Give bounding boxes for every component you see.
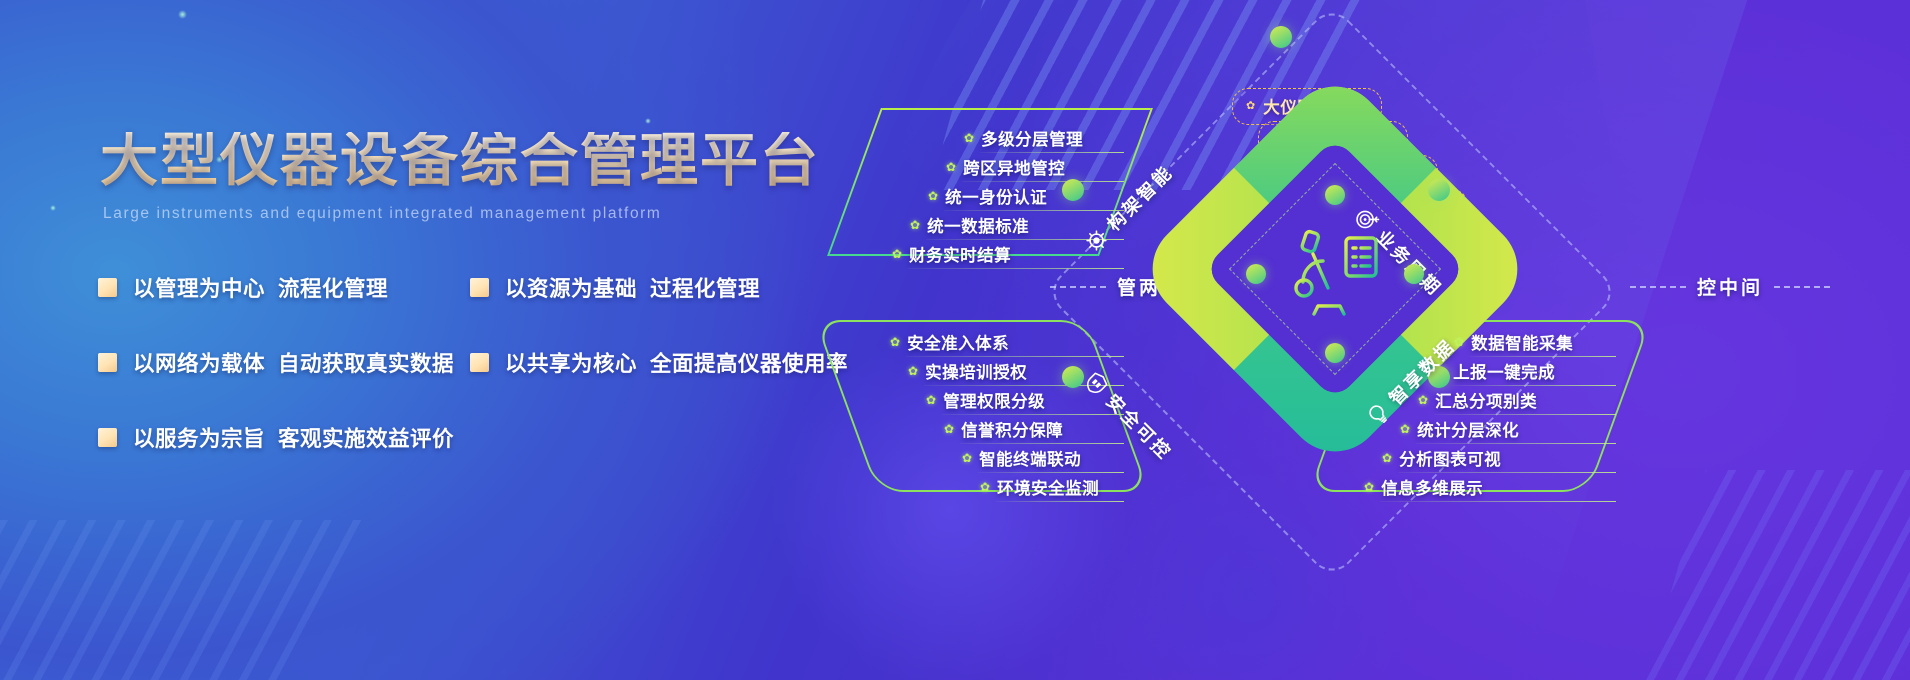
panel-bottom-left-list: ✿ 安全准入体系 ✿ 实操培训授权 ✿ 管理权限分级 ✿ 信誉积分保障 ✿ 智能… bbox=[876, 330, 1116, 504]
item-underline bbox=[996, 501, 1124, 502]
list-item[interactable]: ✿ 信誉积分保障 bbox=[944, 417, 1116, 441]
item-underline bbox=[962, 181, 1124, 182]
list-item[interactable]: ✿ 安全准入体系 bbox=[890, 330, 1116, 354]
list-item[interactable]: ✿ 汇总分项别类 bbox=[1418, 388, 1608, 412]
star-icon: ✿ bbox=[1246, 101, 1255, 112]
connector-node bbox=[1428, 179, 1450, 201]
architecture-diagram: 管两头 控中间 ✿ 多级分层管理 ✿ 跨区异地管控 ✿ 统一身份认证 ✿ 统一 bbox=[840, 0, 1910, 680]
star-icon: ✿ bbox=[964, 132, 974, 144]
list-item[interactable]: ✿ 统一身份认证 bbox=[928, 184, 1116, 208]
item-underline bbox=[960, 443, 1124, 444]
list-item[interactable]: ✿ 多级分层管理 bbox=[964, 126, 1116, 150]
list-item-label: 上报一键完成 bbox=[1453, 359, 1555, 383]
panel-top-left-list: ✿ 多级分层管理 ✿ 跨区异地管控 ✿ 统一身份认证 ✿ 统一数据标准 ✿ 财务… bbox=[886, 126, 1116, 271]
star-icon: ✿ bbox=[1400, 423, 1410, 435]
list-item-label: 统一身份认证 bbox=[945, 184, 1047, 208]
star-icon: ✿ bbox=[980, 481, 990, 493]
bullet-square-icon bbox=[98, 428, 117, 447]
list-item-label: 跨区异地管控 bbox=[963, 155, 1065, 179]
list-item-label: 管理权限分级 bbox=[943, 388, 1045, 412]
star-icon: ✿ bbox=[944, 423, 954, 435]
list-item-label: 环境安全监测 bbox=[997, 475, 1099, 499]
list-item[interactable]: ✿ 智能终端联动 bbox=[962, 446, 1116, 470]
divider-dash bbox=[1774, 286, 1830, 288]
item-underline bbox=[908, 268, 1124, 269]
star-icon: ✿ bbox=[890, 336, 900, 348]
item-underline bbox=[980, 152, 1124, 153]
list-item-label: 汇总分项别类 bbox=[1435, 388, 1537, 412]
list-item-label: 信息多维展示 bbox=[1381, 475, 1483, 499]
item-underline bbox=[942, 414, 1124, 415]
star-icon: ✿ bbox=[926, 394, 936, 406]
list-item[interactable]: ✿ 分析图表可视 bbox=[1382, 446, 1608, 470]
section-label-right-text: 控中间 bbox=[1697, 273, 1763, 300]
feature-text: 以共享为核心全面提高仪器使用率 bbox=[505, 347, 848, 378]
list-item[interactable]: ✿ 信息多维展示 bbox=[1364, 475, 1608, 499]
list-item[interactable]: ✿ 跨区异地管控 bbox=[946, 155, 1116, 179]
star-icon: ✿ bbox=[910, 219, 920, 231]
star-icon: ✿ bbox=[1418, 394, 1428, 406]
list-item-label: 数据智能采集 bbox=[1471, 330, 1573, 354]
star-icon: ✿ bbox=[946, 161, 956, 173]
star-icon: ✿ bbox=[892, 248, 902, 260]
list-item-label: 多级分层管理 bbox=[981, 126, 1083, 150]
inner-node-bottom bbox=[1325, 343, 1345, 363]
list-item-label: 安全准入体系 bbox=[907, 330, 1009, 354]
microscope-icon bbox=[1280, 226, 1392, 326]
star-icon: ✿ bbox=[908, 365, 918, 377]
item-underline bbox=[978, 472, 1124, 473]
feature-item: 以网络为载体自动获取真实数据 bbox=[98, 347, 470, 378]
star-icon: ✿ bbox=[928, 190, 938, 202]
feature-row: 以网络为载体自动获取真实数据 以共享为核心全面提高仪器使用率 bbox=[98, 347, 888, 378]
list-item-label: 智能终端联动 bbox=[979, 446, 1081, 470]
bullet-square-icon bbox=[98, 278, 117, 297]
inner-node-top bbox=[1325, 185, 1345, 205]
connector-node bbox=[1270, 26, 1292, 48]
item-underline bbox=[1434, 414, 1616, 415]
divider-dash bbox=[1050, 286, 1106, 288]
bullet-square-icon bbox=[470, 353, 489, 372]
list-item-label: 统一数据标准 bbox=[927, 213, 1029, 237]
list-item-label: 分析图表可视 bbox=[1399, 446, 1501, 470]
item-underline bbox=[1398, 472, 1616, 473]
feature-text: 以服务为宗旨客观实施效益评价 bbox=[133, 422, 454, 453]
feature-item: 以服务为宗旨客观实施效益评价 bbox=[98, 422, 470, 453]
feature-row: 以管理为中心流程化管理 以资源为基础过程化管理 bbox=[98, 272, 888, 303]
item-underline bbox=[1452, 385, 1616, 386]
connector-node bbox=[1062, 179, 1084, 201]
list-item[interactable]: ✿ 统计分层深化 bbox=[1400, 417, 1608, 441]
list-item[interactable]: ✿ 上报一键完成 bbox=[1436, 359, 1608, 383]
list-item-label: 实操培训授权 bbox=[925, 359, 1027, 383]
list-item[interactable]: ✿ 数据智能采集 bbox=[1454, 330, 1608, 354]
item-underline bbox=[906, 356, 1124, 357]
item-underline bbox=[1380, 501, 1616, 502]
page-subtitle: Large instruments and equipment integrat… bbox=[103, 205, 661, 223]
inner-node-right bbox=[1404, 264, 1424, 284]
star-icon: ✿ bbox=[1364, 481, 1374, 493]
list-item[interactable]: ✿ 财务实时结算 bbox=[892, 242, 1116, 266]
star-icon: ✿ bbox=[962, 452, 972, 464]
section-label-right: 控中间 bbox=[1630, 273, 1830, 300]
list-item[interactable]: ✿ 环境安全监测 bbox=[980, 475, 1116, 499]
inner-node-left bbox=[1246, 264, 1266, 284]
item-underline bbox=[944, 210, 1124, 211]
feature-row: 以服务为宗旨客观实施效益评价 bbox=[98, 422, 888, 453]
divider-dash bbox=[1630, 286, 1686, 288]
feature-text: 以网络为载体自动获取真实数据 bbox=[133, 347, 454, 378]
bullet-square-icon bbox=[470, 278, 489, 297]
page-title: 大型仪器设备综合管理平台 bbox=[100, 132, 820, 190]
list-item-label: 统计分层深化 bbox=[1417, 417, 1519, 441]
star-icon: ✿ bbox=[1382, 452, 1392, 464]
feature-list: 以管理为中心流程化管理 以资源为基础过程化管理 以网络为载体自动获取真实数据 以… bbox=[98, 272, 888, 497]
feature-text: 以管理为中心流程化管理 bbox=[133, 272, 388, 303]
list-item-label: 信誉积分保障 bbox=[961, 417, 1063, 441]
feature-text: 以资源为基础过程化管理 bbox=[505, 272, 760, 303]
list-item-label: 财务实时结算 bbox=[909, 242, 1011, 266]
item-underline bbox=[1416, 443, 1616, 444]
feature-item: 以共享为核心全面提高仪器使用率 bbox=[470, 347, 848, 378]
bullet-square-icon bbox=[98, 353, 117, 372]
item-underline bbox=[1470, 356, 1616, 357]
feature-item: 以资源为基础过程化管理 bbox=[470, 272, 760, 303]
feature-item: 以管理为中心流程化管理 bbox=[98, 272, 470, 303]
hero-panel: 大型仪器设备综合管理平台 Large instruments and equip… bbox=[0, 0, 900, 680]
